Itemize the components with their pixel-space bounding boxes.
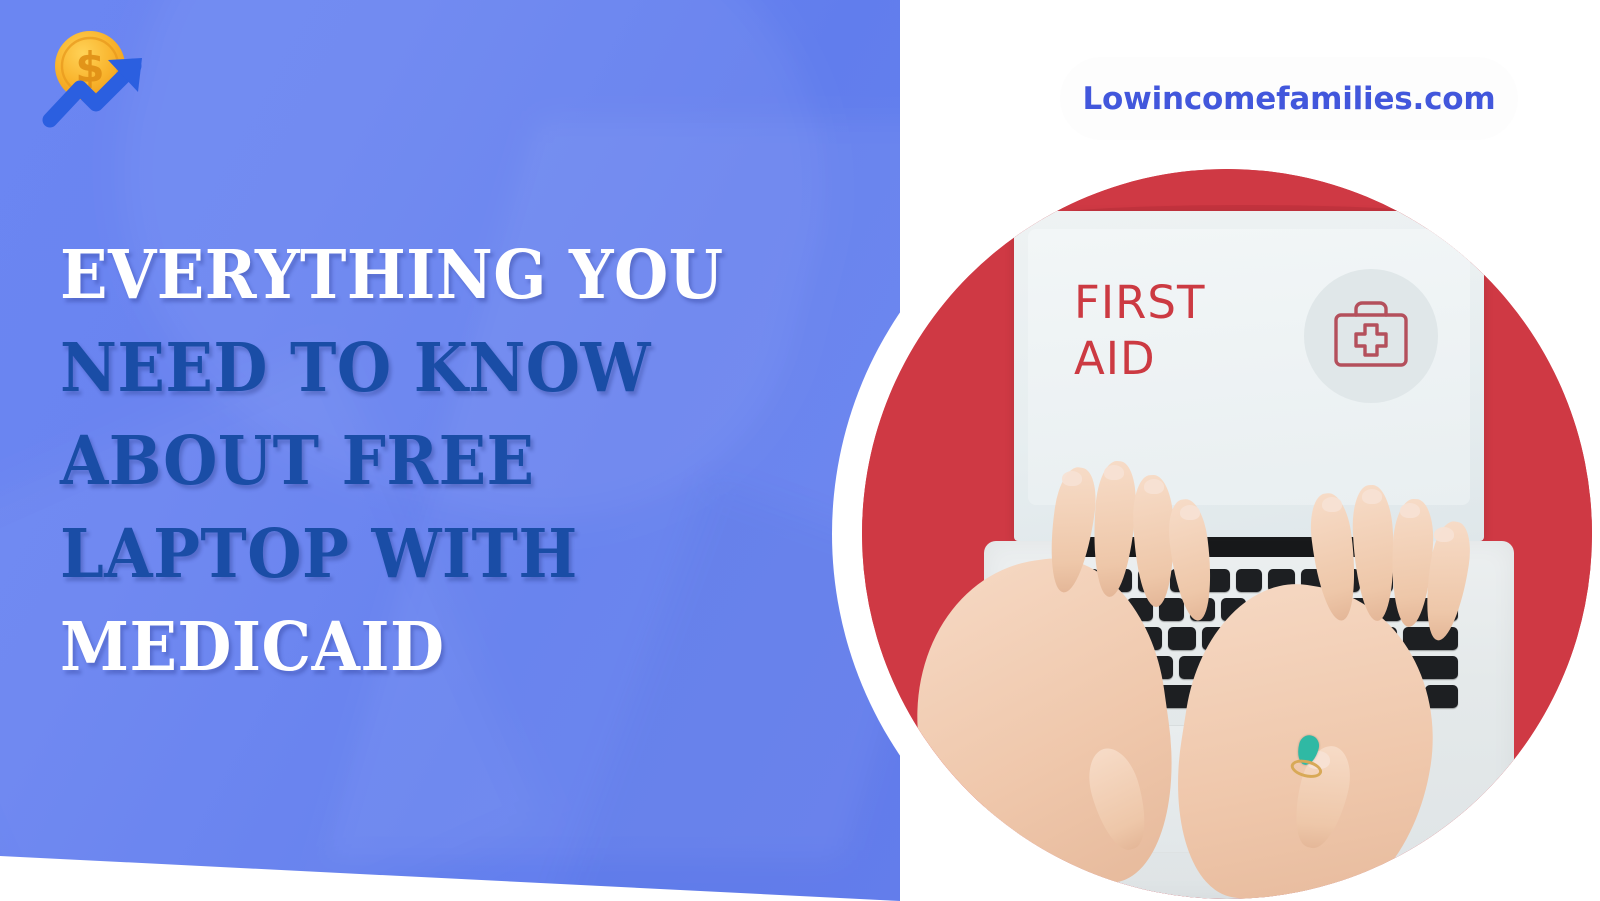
coin-growth-arrow-logo: $ [34, 22, 174, 138]
keyboard-key [1425, 685, 1458, 708]
right-hand-nail [1362, 489, 1382, 504]
left-hand-nail [1180, 505, 1200, 520]
right-hand-nail [1434, 527, 1454, 542]
left-hand-nail [1062, 471, 1082, 486]
promo-banner: $ Lowincomefamilies.com EVERYTHING YOU N… [0, 0, 1600, 901]
left-hand-nail [1144, 479, 1164, 494]
right-hand-nail [1322, 497, 1342, 512]
first-aid-text-line1: FIRST [1074, 275, 1205, 331]
left-hand-nail [1104, 465, 1124, 480]
hero-photo: FIRST AID [862, 169, 1592, 899]
first-aid-icon-circle [1304, 269, 1438, 403]
headline-line-4: LAPTOP WITH [60, 507, 785, 600]
right-hand-nail [1400, 503, 1420, 518]
headline-line-1: EVERYTHING YOU [60, 228, 785, 321]
keyboard-key [1236, 569, 1263, 592]
laptop-screen: FIRST AID [1028, 229, 1470, 505]
first-aid-text-line2: AID [1074, 331, 1205, 387]
site-url-label: Lowincomefamilies.com [1083, 81, 1496, 117]
site-url-badge[interactable]: Lowincomefamilies.com [1060, 57, 1518, 140]
first-aid-kit-icon [1328, 297, 1414, 375]
headline-line-5: MEDICAID [60, 600, 785, 693]
headline-line-3: ABOUT FREE [60, 414, 785, 507]
headline-block: EVERYTHING YOU NEED TO KNOW ABOUT FREE L… [60, 228, 840, 693]
headline-line-2: NEED TO KNOW [60, 321, 785, 414]
keyboard-key [1168, 627, 1196, 650]
first-aid-screen-text: FIRST AID [1074, 275, 1205, 387]
